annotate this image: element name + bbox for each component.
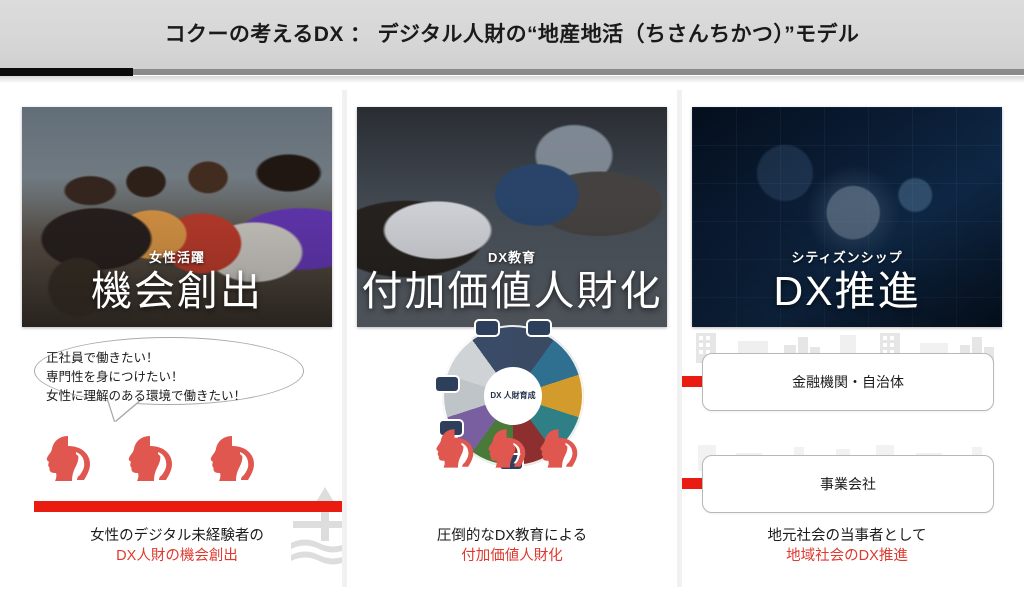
speech-bubble-text: 正社員で働きたい！ 専門性を身につけたい！ 女性に理解のある環境で働きたい！	[46, 349, 326, 406]
content-board: 女性活躍 機会創出 正社員で働きたい！ 専門性を身につけたい！ 女性に理解のある…	[12, 90, 1012, 587]
target-box-business-company[interactable]: 事業会社	[702, 455, 994, 513]
photo-card-women-group: 女性活躍 機会創出	[22, 107, 332, 327]
photo-label: シティズンシップ	[692, 247, 1002, 266]
caption-line-2: 付加価値人財化	[347, 547, 677, 567]
bubble-line-3: 女性に理解のある環境で働きたい！	[46, 387, 326, 406]
woman-head-silhouette-icon	[429, 425, 475, 471]
woman-silhouette-group	[38, 431, 328, 485]
slide-header: コクーの考えるDX ： デジタル人財の“地産地活（ちさんちかつ）”モデル	[0, 0, 1024, 72]
caption-line-1: 地元社会の当事者として	[682, 527, 1012, 547]
column-2-body: DX 人財育成	[347, 327, 677, 587]
arrow-shaft	[682, 376, 704, 387]
target-box-label: 金融機関・自治体	[792, 372, 904, 392]
wheel-center-label: DX 人財育成	[484, 367, 542, 425]
bubble-line-2: 専門性を身につけたい！	[46, 368, 326, 387]
woman-head-silhouette-icon	[202, 431, 256, 485]
column-opportunity: 女性活躍 機会創出 正社員で働きたい！ 専門性を身につけたい！ 女性に理解のある…	[12, 90, 342, 587]
wheel-badge-icon	[528, 321, 550, 335]
header-shadow	[0, 76, 1024, 83]
wheel-center-text: DX 人財育成	[490, 391, 535, 401]
target-box-label: 事業会社	[820, 474, 876, 494]
column-2-caption: 圧倒的なDX教育による 付加価値人財化	[347, 527, 677, 566]
arrow-shaft	[34, 501, 342, 512]
column-value-creation: DX教育 付加価値人財化 DX 人財育成	[347, 90, 677, 587]
arrow-shaft	[682, 478, 704, 489]
wheel-badge-icon	[436, 377, 458, 391]
right-arrow-icon	[34, 497, 342, 515]
caption-line-2: 地域社会のDX推進	[682, 547, 1012, 567]
target-box-financial-government[interactable]: 金融機関・自治体	[702, 353, 994, 411]
caption-line-2: DX人財の機会創出	[12, 547, 342, 567]
page-title: コクーの考えるDX ： デジタル人財の“地産地活（ちさんちかつ）”モデル	[0, 18, 1024, 48]
photo-title: 機会創出	[22, 270, 332, 313]
header-rule-gray	[0, 69, 1024, 75]
caption-line-1: 圧倒的なDX教育による	[347, 527, 677, 547]
photo-label: 女性活躍	[22, 247, 332, 266]
woman-head-silhouette-icon	[481, 425, 527, 471]
caption-line-1: 女性のデジタル未経験者の	[12, 527, 342, 547]
photo-label: DX教育	[357, 247, 667, 266]
column-1-body: 正社員で働きたい！ 専門性を身につけたい！ 女性に理解のある環境で働きたい！	[12, 327, 342, 587]
column-3-body: 金融機関・自治体 事業会社 地元社会の当事者として 地域社会のDX推進	[682, 327, 1012, 587]
column-3-caption: 地元社会の当事者として 地域社会のDX推進	[682, 527, 1012, 566]
photo-card-tablet-meeting: DX教育 付加価値人財化	[357, 107, 667, 327]
slide-root: コクーの考えるDX ： デジタル人財の“地産地活（ちさんちかつ）”モデル 女性活…	[0, 0, 1024, 590]
photo-title: 付加価値人財化	[357, 270, 667, 313]
column-dx-promotion: シティズンシップ DX推進	[682, 90, 1012, 587]
column-1-caption: 女性のデジタル未経験者の DX人財の機会創出	[12, 527, 342, 566]
photo-card-digital-globe: シティズンシップ DX推進	[692, 107, 1002, 327]
photo-title: DX推進	[692, 270, 1002, 313]
header-rule-accent	[0, 68, 133, 76]
bubble-line-1: 正社員で働きたい！	[46, 349, 326, 368]
woman-head-silhouette-icon	[38, 431, 92, 485]
wheel-badge-icon	[476, 321, 498, 335]
woman-head-silhouette-icon	[533, 425, 579, 471]
woman-silhouette-group	[429, 425, 609, 471]
woman-head-silhouette-icon	[120, 431, 174, 485]
